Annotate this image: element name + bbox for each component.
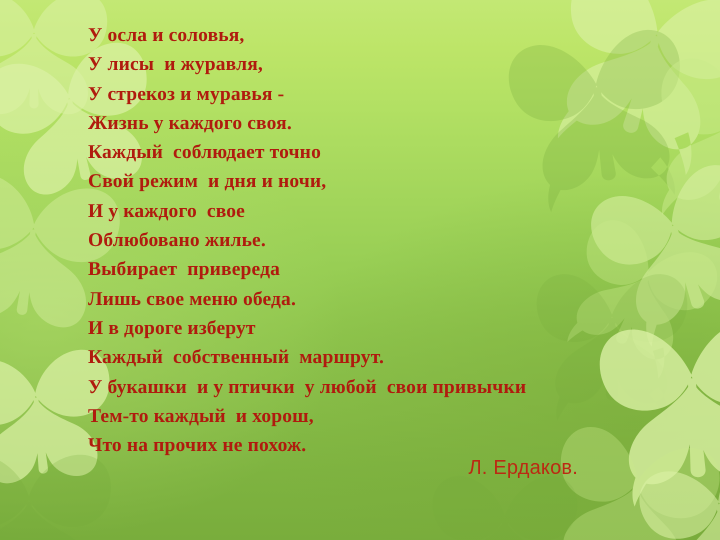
poem-line: Выбирает привереда <box>88 255 648 284</box>
poem-text-block: У осла и соловья, У лисы и журавля, У ст… <box>88 21 648 460</box>
author-name: Л. Ердаков. <box>468 455 578 481</box>
poem-slide: У осла и соловья, У лисы и журавля, У ст… <box>0 0 720 540</box>
poem-line: Свой режим и дня и ночи, <box>88 167 648 196</box>
butterfly-icon <box>637 47 720 244</box>
poem-line: И у каждого свое <box>88 197 648 226</box>
poem-line: Жизнь у каждого своя. <box>88 109 648 138</box>
poem-line: И в дороге изберут <box>88 314 648 343</box>
poem-line: Лишь свое меню обеда. <box>88 285 648 314</box>
poem-line: У букашки и у птички у любой свои привыч… <box>88 373 648 402</box>
poem-line: Каждый собственный маршрут. <box>88 343 648 372</box>
poem-line: У осла и соловья, <box>88 21 648 50</box>
author-attribution: Л. Ердаков. <box>88 455 578 481</box>
poem-line: Тем-то каждый и хорош, <box>88 402 648 431</box>
poem-line: У стрекоз и муравья - <box>88 80 648 109</box>
poem-line: Облюбовано жилье. <box>88 226 648 255</box>
poem-line: Каждый соблюдает точно <box>88 138 648 167</box>
poem-line: У лисы и журавля, <box>88 50 648 79</box>
